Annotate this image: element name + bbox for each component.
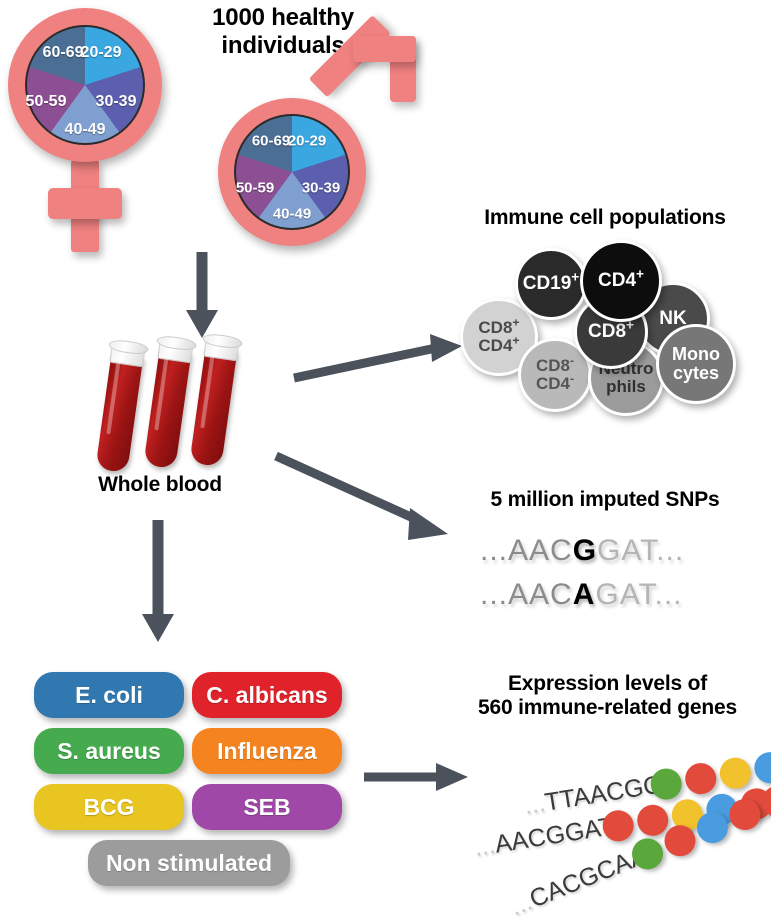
snp-allele1-variant: G bbox=[573, 534, 597, 567]
bubble-cd8n-cd4n-label: CD8- CD4- bbox=[536, 357, 574, 393]
expression-dot bbox=[718, 755, 753, 790]
figure-canvas: 1000 healthy individuals 20-29 30-39 40-… bbox=[0, 0, 771, 922]
arrow-blood-to-stimuli bbox=[139, 520, 179, 644]
whole-blood-tubes bbox=[110, 330, 260, 470]
female-pie-label-50-59: 50-59 bbox=[26, 93, 67, 111]
stimulus-bcg-label: BCG bbox=[83, 794, 134, 821]
expression-strand-bases: AACGGAT bbox=[493, 812, 616, 858]
bubble-cd8-label: CD8+ bbox=[588, 322, 634, 342]
snps-title: 5 million imputed SNPs bbox=[450, 488, 760, 512]
stimuli-panel: E. coli C. albicans S. aureus Influenza … bbox=[30, 672, 350, 892]
bubble-monocytes: Mono cytes bbox=[656, 324, 736, 404]
blood-tube-body bbox=[143, 348, 191, 469]
snp-allele1-suffix: GAT... bbox=[597, 534, 684, 567]
stimulus-seb[interactable]: SEB bbox=[192, 784, 342, 830]
female-symbol-crossbar bbox=[48, 188, 122, 219]
expression-strand-group: ...TTAACGG ...AACGGAT ...CACGCAA bbox=[455, 740, 771, 920]
snp-allele2-suffix: GAT... bbox=[595, 578, 682, 611]
bubble-cd4: CD4+ bbox=[580, 240, 662, 322]
whole-blood-label: Whole blood bbox=[70, 473, 250, 497]
stimulus-e-coli[interactable]: E. coli bbox=[34, 672, 184, 718]
snp-allele2-prefix: ...AAC bbox=[480, 578, 573, 611]
stimulus-s-aureus-label: S. aureus bbox=[57, 738, 161, 765]
bubble-cd19-label: CD19+ bbox=[523, 274, 580, 294]
immune-cell-bubble-group: CD8+ CD4+ CD19+ CD4+ NK CD8+ CD8- C bbox=[460, 240, 760, 415]
bubble-cd8p-cd4p-label: CD8+ CD4+ bbox=[478, 319, 519, 355]
male-pie-label-50-59: 50-59 bbox=[236, 180, 274, 197]
stimulus-influenza-label: Influenza bbox=[217, 738, 317, 765]
expression-title: Expression levels of 560 immune-related … bbox=[455, 672, 760, 720]
snp-allele-row: ...AACGGAT... bbox=[480, 534, 684, 568]
expression-title-line1: Expression levels of bbox=[455, 672, 760, 696]
immune-populations-title: Immune cell populations bbox=[450, 206, 760, 230]
stimulus-c-albicans[interactable]: C. albicans bbox=[192, 672, 342, 718]
bubble-cd19: CD19+ bbox=[515, 248, 587, 320]
stimulus-c-albicans-label: C. albicans bbox=[206, 682, 327, 709]
female-pie-label-40-49: 40-49 bbox=[65, 121, 106, 139]
stimulus-influenza[interactable]: Influenza bbox=[192, 728, 342, 774]
expression-strand-sequence: ...AACGGAT bbox=[472, 812, 616, 863]
expression-dot bbox=[683, 761, 718, 796]
blood-tube-body bbox=[189, 346, 237, 467]
stimulus-s-aureus[interactable]: S. aureus bbox=[34, 728, 184, 774]
arrow-blood-to-immune bbox=[290, 330, 470, 390]
female-pie-label-20-29: 20-29 bbox=[81, 44, 122, 62]
male-symbol-arrowhead-horizontal bbox=[353, 36, 416, 62]
stimulus-non-stimulated[interactable]: Non stimulated bbox=[88, 840, 290, 886]
female-pie-label-30-39: 30-39 bbox=[96, 93, 137, 111]
stimulus-seb-label: SEB bbox=[243, 794, 290, 821]
bubble-monocytes-label: Mono cytes bbox=[672, 345, 720, 383]
snp-sequences: ...AACGGAT... ...AACAGAT... bbox=[480, 534, 740, 624]
male-pie-label-20-29: 20-29 bbox=[288, 133, 326, 150]
snp-allele2-variant: A bbox=[573, 578, 596, 611]
male-pie-label-30-39: 30-39 bbox=[302, 180, 340, 197]
arrow-cohort-to-blood bbox=[182, 252, 222, 340]
bubble-cd4-label: CD4+ bbox=[598, 271, 644, 291]
stimulus-e-coli-label: E. coli bbox=[75, 682, 143, 709]
arrow-blood-to-snps bbox=[272, 450, 462, 550]
expression-title-line2: 560 immune-related genes bbox=[455, 696, 760, 720]
expression-dot bbox=[752, 750, 771, 785]
male-pie-label-60-69: 60-69 bbox=[252, 133, 290, 150]
male-pie-label-40-49: 40-49 bbox=[273, 206, 311, 223]
snp-allele-row: ...AACAGAT... bbox=[480, 578, 683, 612]
snp-allele1-prefix: ...AAC bbox=[480, 534, 573, 567]
female-pie-label-60-69: 60-69 bbox=[43, 44, 84, 62]
stimulus-bcg[interactable]: BCG bbox=[34, 784, 184, 830]
blood-tube-body bbox=[95, 352, 143, 473]
stimulus-non-stimulated-label: Non stimulated bbox=[106, 850, 272, 877]
